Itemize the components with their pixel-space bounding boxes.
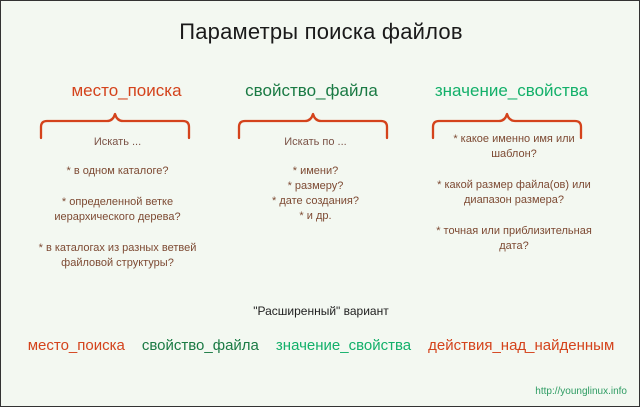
- extended-variant-subtitle: "Расширенный" вариант: [1, 304, 640, 318]
- list-item: * и др.: [233, 209, 398, 224]
- slide-canvas: Параметры поиска файлов место_поиска сво…: [0, 0, 640, 407]
- column-header-znachenie-svoystva: значение_свойства: [409, 81, 614, 101]
- list-item: * определенной веткеиерархического дерев…: [15, 195, 220, 225]
- column-body-svoystvo-fayla: Искать по ... * имени? * размеру? * дате…: [233, 135, 398, 224]
- page-title: Параметры поиска файлов: [1, 19, 640, 45]
- term-deystviya-nad-naydennym: действия_над_найденным: [428, 337, 614, 354]
- term-znachenie-svoystva: значение_свойства: [276, 337, 411, 354]
- extended-variant-term-row: место_поиска свойство_файла значение_сво…: [1, 337, 640, 354]
- column-caption: Искать по ...: [233, 135, 398, 150]
- term-svoystvo-fayla: свойство_файла: [142, 337, 259, 354]
- column-caption: Искать ...: [15, 135, 220, 150]
- list-item: * какое именно имя илишаблон?: [409, 132, 619, 162]
- list-item: * в одном каталоге?: [15, 164, 220, 179]
- list-item: * дате создания?: [233, 194, 398, 209]
- list-item: * имени?: [233, 164, 398, 179]
- term-mesto-poiska: место_поиска: [28, 337, 125, 354]
- column-header-mesto-poiska: место_поиска: [19, 81, 234, 101]
- list-item: * точная или приблизительнаядата?: [409, 224, 619, 254]
- watermark: http://younglinux.info: [535, 386, 627, 397]
- list-item: * какой размер файла(ов) илидиапазон раз…: [409, 178, 619, 208]
- column-body-znachenie-svoystva: * какое именно имя илишаблон? * какой ра…: [409, 132, 619, 254]
- list-item: * размеру?: [233, 179, 398, 194]
- column-body-mesto-poiska: Искать ... * в одном каталоге? * определ…: [15, 135, 220, 271]
- column-header-svoystvo-fayla: свойство_файла: [229, 81, 394, 101]
- list-item: * в каталогах из разных ветвейфайловой с…: [15, 241, 220, 271]
